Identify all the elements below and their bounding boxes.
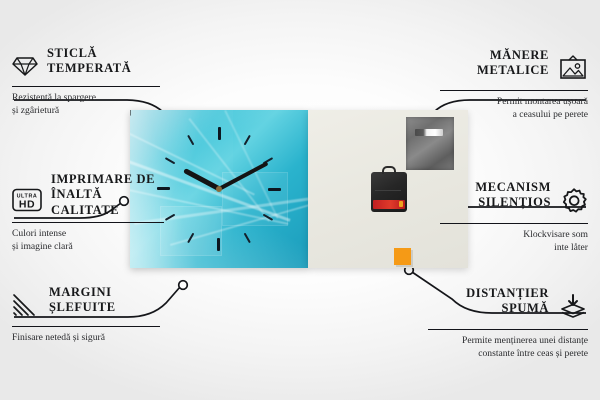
callout-margini-subtitle: Finisare netedă și sigură	[12, 332, 160, 345]
clock-center-cap	[216, 186, 222, 192]
callout-distantier-title: DISTANȚIER SPUMĂ	[466, 286, 549, 317]
callout-margini-rule	[12, 326, 160, 328]
callout-manere-metalice: MĂNERE METALICE Permit montarea ușoară a…	[440, 40, 588, 122]
callout-mecanism-silentios: MECANISM SILENȚIOS Klockvisare som inte …	[440, 172, 588, 255]
callout-manere-rule	[440, 90, 588, 92]
callout-distantier-subtitle: Permite menținerea unei distanțe constan…	[428, 335, 588, 361]
infographic-stage: STICLĂ TEMPERATĂ Rezistentă la spargere …	[0, 0, 600, 400]
callout-sticla-temperata: STICLĂ TEMPERATĂ Rezistentă la spargere …	[12, 40, 160, 118]
callout-imprimare-calitate: ultra HD IMPRIMARE DE ÎNALTĂ CALITATE Cu…	[12, 172, 164, 254]
callout-mecanism-head: MECANISM SILENȚIOS	[440, 172, 588, 219]
clock-tick	[165, 188, 220, 221]
callout-sticla-title: STICLĂ TEMPERATĂ	[47, 46, 131, 77]
clock-tick	[218, 127, 220, 189]
callout-sticla-rule	[12, 86, 160, 88]
callout-distantier-head: DISTANȚIER SPUMĂ	[428, 278, 588, 325]
svg-text:HD: HD	[19, 199, 35, 211]
metal-hanger-part	[406, 117, 454, 170]
callout-manere-head: MĂNERE METALICE	[440, 40, 588, 86]
clock-tick	[218, 189, 220, 251]
callout-sticla-head: STICLĂ TEMPERATĂ	[12, 40, 160, 82]
callout-distantier-rule	[428, 329, 588, 331]
anchor-margini	[179, 281, 188, 290]
foam-spacer-part	[394, 248, 411, 265]
callout-margini-title: MARGINI ȘLEFUITE	[49, 285, 116, 316]
clock-tick	[219, 188, 281, 190]
callout-manere-title: MĂNERE METALICE	[477, 48, 549, 79]
callout-mecanism-title: MECANISM SILENȚIOS	[475, 180, 551, 211]
callout-imprimare-rule	[12, 222, 164, 224]
foam-spacer-icon	[558, 278, 588, 325]
callout-margini-slefuite: MARGINI ȘLEFUITE Finisare netedă și sigu…	[12, 278, 160, 345]
callout-imprimare-head: ultra HD IMPRIMARE DE ÎNALTĂ CALITATE	[12, 172, 164, 218]
clock-tick	[157, 188, 219, 190]
beveled-edges-icon	[12, 278, 40, 322]
clock-mechanism-part	[371, 172, 407, 212]
callout-mecanism-subtitle: Klockvisare som inte låter	[440, 229, 588, 255]
diamond-icon	[12, 40, 38, 82]
callout-margini-head: MARGINI ȘLEFUITE	[12, 278, 160, 322]
callout-mecanism-rule	[440, 223, 588, 225]
ultra-hd-icon: ultra HD	[12, 173, 42, 217]
callout-sticla-subtitle: Rezistentă la spargere și zgârietură	[12, 92, 160, 118]
picture-frame-icon	[558, 40, 588, 86]
callout-distantier-spuma: DISTANȚIER SPUMĂ Permite menținerea unei…	[428, 278, 588, 361]
callout-imprimare-subtitle: Culori intense și imagine clară	[12, 228, 164, 254]
callout-imprimare-title: IMPRIMARE DE ÎNALTĂ CALITATE	[51, 172, 164, 218]
gear-icon	[560, 172, 588, 219]
battery-part	[373, 200, 405, 209]
callout-manere-subtitle: Permit montarea ușoară a ceasului pe per…	[440, 96, 588, 122]
